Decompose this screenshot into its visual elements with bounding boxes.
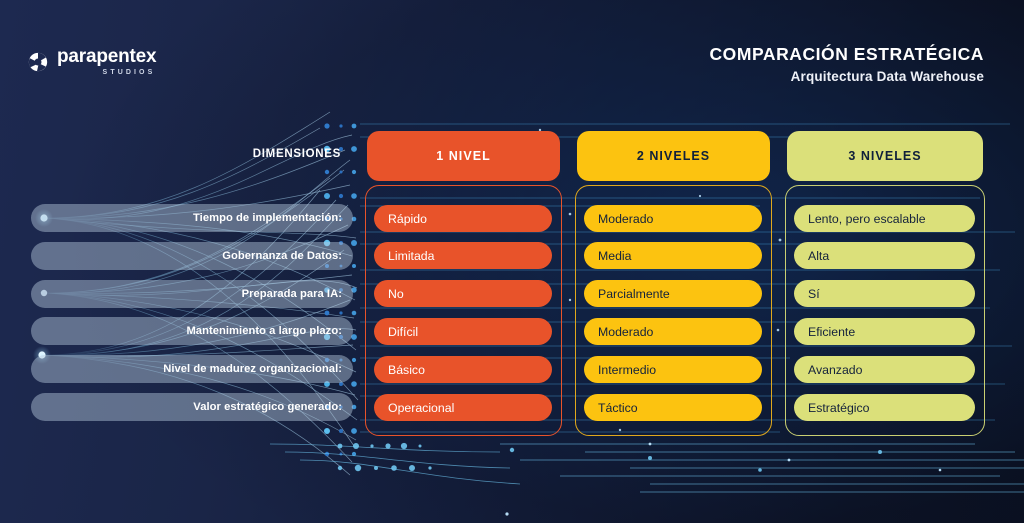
cell-c1-r6: Operacional (374, 394, 552, 421)
row-label-valor-estrategico: Valor estratégico generado: (31, 393, 353, 421)
row-label-mantenimiento: Mantenimiento a largo plazo: (31, 317, 353, 345)
cell-c2-r3: Parcialmente (584, 280, 762, 307)
cell-c3-r4: Eficiente (794, 318, 975, 345)
brand-wordmark: parapentex STUDIOS (57, 47, 156, 76)
column-header-3-niveles[interactable]: 3 NIVELES (787, 131, 983, 181)
row-label-preparada-ia: Preparada para IA: (31, 280, 353, 308)
parapentex-circle-mark-icon (28, 52, 48, 72)
cell-c2-r6: Táctico (584, 394, 762, 421)
cell-c3-r5: Avanzado (794, 356, 975, 383)
cell-c1-r2: Limitada (374, 242, 552, 269)
infographic-canvas: parapentex STUDIOS COMPARACIÓN ESTRATÉGI… (0, 0, 1024, 523)
cell-c1-r4: Difícil (374, 318, 552, 345)
cell-c3-r2: Alta (794, 242, 975, 269)
cell-c2-r5: Intermedio (584, 356, 762, 383)
column-header-2-niveles[interactable]: 2 NIVELES (577, 131, 770, 181)
cell-c3-r6: Estratégico (794, 394, 975, 421)
cell-c3-r3: Sí (794, 280, 975, 307)
page-title: COMPARACIÓN ESTRATÉGICA (709, 44, 984, 65)
header-titles: COMPARACIÓN ESTRATÉGICA Arquitectura Dat… (709, 44, 984, 84)
cell-c2-r2: Media (584, 242, 762, 269)
brand-tagline: STUDIOS (57, 69, 156, 76)
brand-name: parapentex (57, 47, 156, 66)
row-label-gobernanza-datos: Gobernanza de Datos: (31, 242, 353, 270)
cell-c1-r5: Básico (374, 356, 552, 383)
row-header-label: DIMENSIONES (253, 148, 341, 160)
cell-c2-r4: Moderado (584, 318, 762, 345)
cell-c3-r1: Lento, pero escalable (794, 205, 975, 232)
page-subtitle: Arquitectura Data Warehouse (709, 69, 984, 84)
row-label-tiempo-implementacion: Tiempo de implementación: (31, 204, 353, 232)
row-label-madurez-organizacional: Nivel de madurez organizacional: (31, 355, 353, 383)
brand-logo: parapentex STUDIOS (28, 47, 156, 76)
column-header-1-nivel[interactable]: 1 NIVEL (367, 131, 560, 181)
cell-c1-r3: No (374, 280, 552, 307)
cell-c2-r1: Moderado (584, 205, 762, 232)
cell-c1-r1: Rápido (374, 205, 552, 232)
